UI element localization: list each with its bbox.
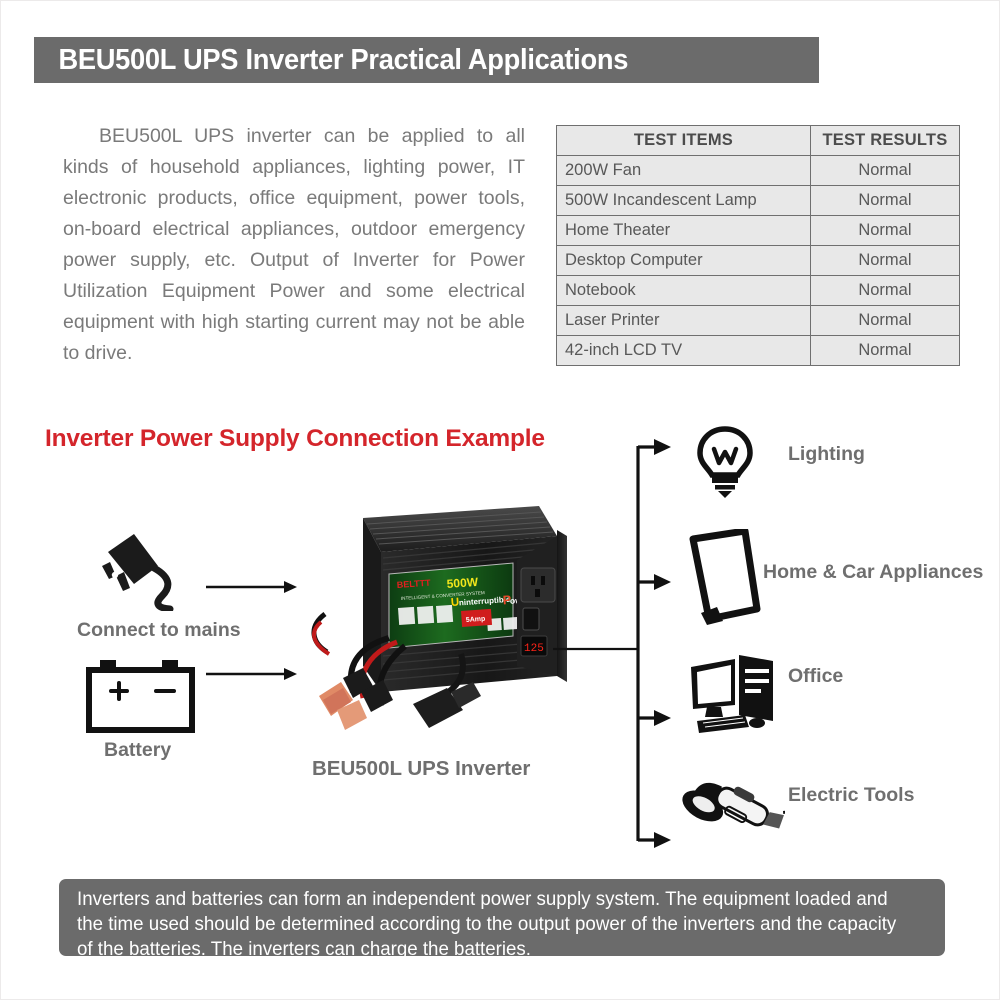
angle-grinder-icon: [681, 765, 785, 861]
cell-test-result: Normal: [810, 186, 959, 216]
cell-test-result: Normal: [810, 336, 959, 366]
output-label-electric-tools: Electric Tools: [788, 784, 914, 807]
output-distribution-bus: [553, 437, 673, 857]
table-row: Home Theater Normal: [557, 216, 960, 246]
cell-test-item: Laser Printer: [557, 306, 811, 336]
battery-icon: [84, 656, 202, 736]
output-label-home-car-appliances: Home & Car Appliances: [763, 561, 983, 584]
header-banner: BEU500L UPS Inverter Practical Applicati…: [34, 37, 819, 83]
cell-test-item: Desktop Computer: [557, 246, 811, 276]
column-header-test-results: TEST RESULTS: [810, 126, 959, 156]
input-label-battery: Battery: [104, 739, 171, 762]
column-header-test-items: TEST ITEMS: [557, 126, 811, 156]
light-bulb-icon: [693, 425, 757, 499]
svg-text:5Amp: 5Amp: [466, 616, 486, 624]
intro-paragraph: BEU500L UPS inverter can be applied to a…: [63, 121, 525, 369]
cell-test-item: Notebook: [557, 276, 811, 306]
test-results-table: TEST ITEMS TEST RESULTS 200W Fan Normal …: [556, 125, 960, 366]
table-header-row: TEST ITEMS TEST RESULTS: [557, 126, 960, 156]
cell-test-item: Home Theater: [557, 216, 811, 246]
table-row: Notebook Normal: [557, 276, 960, 306]
table-row: 500W Incandescent Lamp Normal: [557, 186, 960, 216]
input-label-mains: Connect to mains: [77, 619, 241, 642]
table-row: Desktop Computer Normal: [557, 246, 960, 276]
cell-test-item: 200W Fan: [557, 156, 811, 186]
footer-note-banner: Inverters and batteries can form an inde…: [59, 879, 945, 956]
output-label-lighting: Lighting: [788, 443, 865, 466]
desktop-computer-icon: [687, 649, 783, 735]
table-row: 42-inch LCD TV Normal: [557, 336, 960, 366]
cell-test-result: Normal: [810, 306, 959, 336]
cell-test-result: Normal: [810, 216, 959, 246]
section-heading-connection-example: Inverter Power Supply Connection Example: [45, 425, 545, 453]
svg-text:500W: 500W: [446, 575, 479, 591]
device-caption: BEU500L UPS Inverter: [312, 757, 530, 781]
table-row: Laser Printer Normal: [557, 306, 960, 336]
table-row: 200W Fan Normal: [557, 156, 960, 186]
infographic-page: BEU500L UPS Inverter Practical Applicati…: [0, 0, 1000, 1000]
cell-test-result: Normal: [810, 276, 959, 306]
tv-monitor-icon: [687, 529, 763, 625]
inverter-product-image: BELTTT 500W INTELLIGENT & CONVERTER SYST…: [301, 496, 571, 761]
cell-test-item: 42-inch LCD TV: [557, 336, 811, 366]
inverter-display-value: 125: [524, 643, 544, 655]
cell-test-item: 500W Incandescent Lamp: [557, 186, 811, 216]
arrow-battery-to-inverter: [206, 666, 298, 682]
cell-test-result: Normal: [810, 156, 959, 186]
cell-test-result: Normal: [810, 246, 959, 276]
power-plug-icon: [96, 526, 206, 611]
output-label-office: Office: [788, 665, 843, 688]
page-title: BEU500L UPS Inverter Practical Applicati…: [34, 44, 628, 77]
arrow-mains-to-inverter: [206, 579, 298, 595]
footer-note-text: Inverters and batteries can form an inde…: [77, 887, 902, 962]
